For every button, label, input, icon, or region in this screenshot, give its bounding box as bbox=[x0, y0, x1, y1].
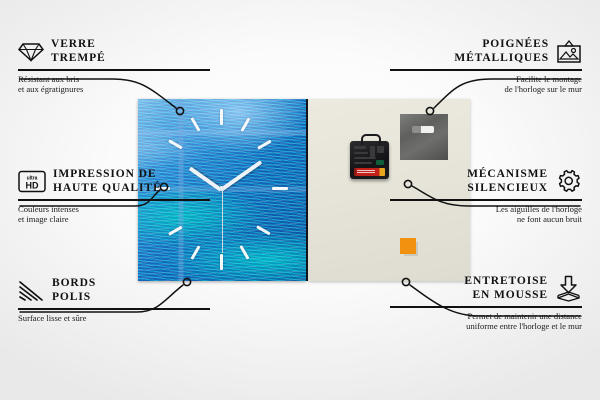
diamond-icon bbox=[18, 42, 44, 62]
feature-title-line2: MÉTALLIQUES bbox=[454, 52, 549, 66]
svg-text:HD: HD bbox=[26, 181, 39, 191]
hanging-loop bbox=[361, 134, 381, 145]
feature-poignees-metalliques: POIGNÉES MÉTALLIQUES Facilite le montage… bbox=[390, 38, 582, 94]
feature-title-line1: IMPRESSION DE bbox=[53, 168, 162, 182]
mechanism-detail bbox=[354, 152, 368, 154]
feature-title-line2: TREMPÉ bbox=[51, 52, 106, 66]
gear-icon bbox=[555, 169, 582, 195]
feature-title-line1: BORDS bbox=[52, 277, 96, 291]
infographic-canvas: VERRE TREMPÉ Résistant aux bris et aux é… bbox=[0, 0, 600, 400]
feature-desc-line2: de l'horloge sur le mur bbox=[390, 84, 582, 94]
mechanism-detail bbox=[376, 160, 384, 165]
picture-hanger-icon bbox=[556, 40, 582, 64]
feature-desc-line1: Couleurs intenses bbox=[18, 204, 210, 214]
feature-title-line1: MÉCANISME bbox=[467, 168, 548, 182]
mechanism-detail bbox=[354, 157, 376, 159]
second-hand bbox=[222, 187, 223, 253]
feature-desc-line2: uniforme entre l'horloge et le mur bbox=[390, 321, 582, 331]
feature-desc-line1: Les aiguilles de l'horloge bbox=[390, 204, 582, 214]
feature-impression-haute-qualite: ultra HD IMPRESSION DE HAUTE QUALITÉ Cou… bbox=[18, 168, 210, 224]
divider-rule bbox=[390, 199, 582, 201]
battery bbox=[354, 168, 385, 176]
battery-label bbox=[357, 170, 375, 173]
divider-rule bbox=[390, 306, 582, 308]
feature-desc-line1: Facilite le montage bbox=[390, 74, 582, 84]
foam-spacer-icon bbox=[555, 275, 582, 302]
feature-title-line1: ENTRETOISE bbox=[464, 275, 548, 289]
feature-desc-line1: Surface lisse et sûre bbox=[18, 313, 210, 323]
hour-marker bbox=[272, 187, 288, 190]
feature-title-line2: HAUTE QUALITÉ bbox=[53, 182, 162, 196]
feature-desc-line1: Résistant aux bris bbox=[18, 74, 210, 84]
polished-edge-icon bbox=[18, 280, 45, 302]
feature-title-line1: POIGNÉES bbox=[454, 38, 549, 52]
clock-hands-hub bbox=[219, 186, 224, 191]
ultra-hd-icon: ultra HD bbox=[18, 170, 46, 193]
hour-marker bbox=[220, 254, 223, 270]
feature-desc-line2: et aux égratignures bbox=[18, 84, 210, 94]
feature-verre-trempe: VERRE TREMPÉ Résistant aux bris et aux é… bbox=[18, 38, 210, 94]
divider-rule bbox=[18, 308, 210, 310]
mechanism-detail bbox=[370, 146, 375, 157]
hour-marker bbox=[220, 109, 223, 125]
feature-title-line1: VERRE bbox=[51, 38, 106, 52]
divider-rule bbox=[18, 199, 210, 201]
feature-entretoise-en-mousse: ENTRETOISE EN MOUSSE Permet de maintenir… bbox=[390, 275, 582, 331]
mechanism-detail bbox=[354, 162, 372, 164]
clock-mechanism-box bbox=[350, 141, 389, 179]
feature-mecanisme-silencieux: MÉCANISME SILENCIEUX Les aiguilles de l'… bbox=[390, 168, 582, 224]
feature-desc-line2: ne font aucun bruit bbox=[390, 214, 582, 224]
divider-rule bbox=[18, 69, 210, 71]
feature-desc-line1: Permet de maintenir une distance bbox=[390, 311, 582, 321]
feature-desc-line2: et image claire bbox=[18, 214, 210, 224]
feature-title-line2: POLIS bbox=[52, 291, 96, 305]
divider-rule bbox=[390, 69, 582, 71]
feature-bords-polis: BORDS POLIS Surface lisse et sûre bbox=[18, 277, 210, 323]
mechanism-detail bbox=[354, 146, 366, 149]
foam-spacer-pad bbox=[400, 238, 416, 254]
feature-title-line2: SILENCIEUX bbox=[467, 182, 548, 196]
mechanism-detail bbox=[377, 146, 384, 153]
metal-hanger-plate bbox=[400, 114, 448, 160]
hanger-slot bbox=[412, 126, 434, 133]
feature-title-line2: EN MOUSSE bbox=[464, 289, 548, 303]
